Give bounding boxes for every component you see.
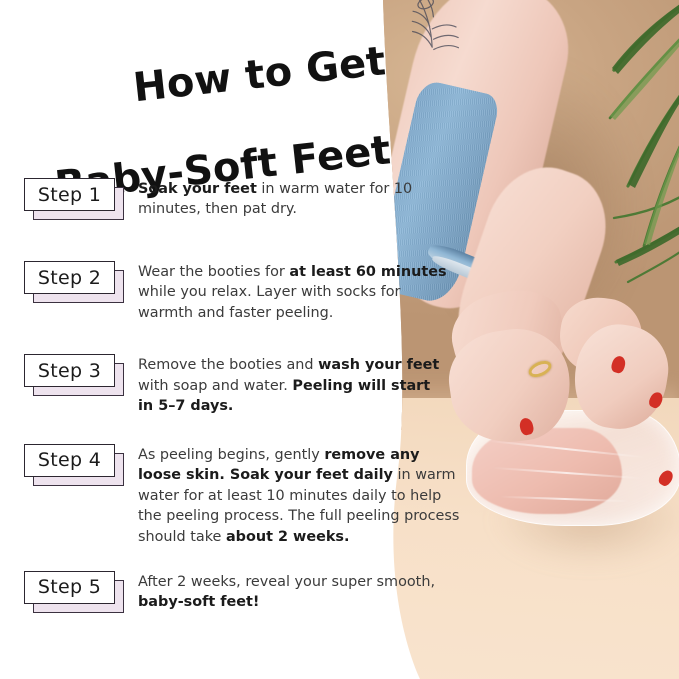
badge-label: Step 5	[24, 571, 115, 604]
floral-tattoo-icon	[391, 0, 484, 84]
list-item: Step 3 Remove the booties and wash your …	[24, 352, 464, 416]
step-badge-4: Step 4	[24, 444, 124, 486]
step-badge-5: Step 5	[24, 571, 124, 613]
infographic-poster: How to Get Baby-Soft Feet Step 1 Soak yo…	[0, 0, 679, 679]
list-item: Step 5 After 2 weeks, reveal your super …	[24, 569, 464, 613]
step-description-5: After 2 weeks, reveal your super smooth,…	[138, 569, 456, 613]
badge-label: Step 1	[24, 178, 115, 211]
badge-label: Step 4	[24, 444, 115, 477]
step-description-2: Wear the booties for at least 60 minutes…	[138, 259, 450, 323]
step-description-1: Soak your feet in warm water for 10 minu…	[138, 176, 450, 220]
steps-list: Step 1 Soak your feet in warm water for …	[24, 176, 464, 613]
list-item: Step 4 As peeling begins, gently remove …	[24, 442, 464, 547]
list-item: Step 2 Wear the booties for at least 60 …	[24, 259, 464, 323]
badge-label: Step 2	[24, 261, 115, 294]
step-badge-1: Step 1	[24, 178, 124, 220]
list-item: Step 1 Soak your feet in warm water for …	[24, 176, 464, 220]
step-description-3: Remove the booties and wash your feet wi…	[138, 352, 450, 416]
page-title: How to Get Baby-Soft Feet	[70, 0, 382, 152]
step-description-4: As peeling begins, gently remove any loo…	[138, 442, 460, 547]
step-badge-2: Step 2	[24, 261, 124, 303]
page-title-line-1: How to Get	[131, 38, 388, 111]
badge-label: Step 3	[24, 354, 115, 387]
step-badge-3: Step 3	[24, 354, 124, 396]
